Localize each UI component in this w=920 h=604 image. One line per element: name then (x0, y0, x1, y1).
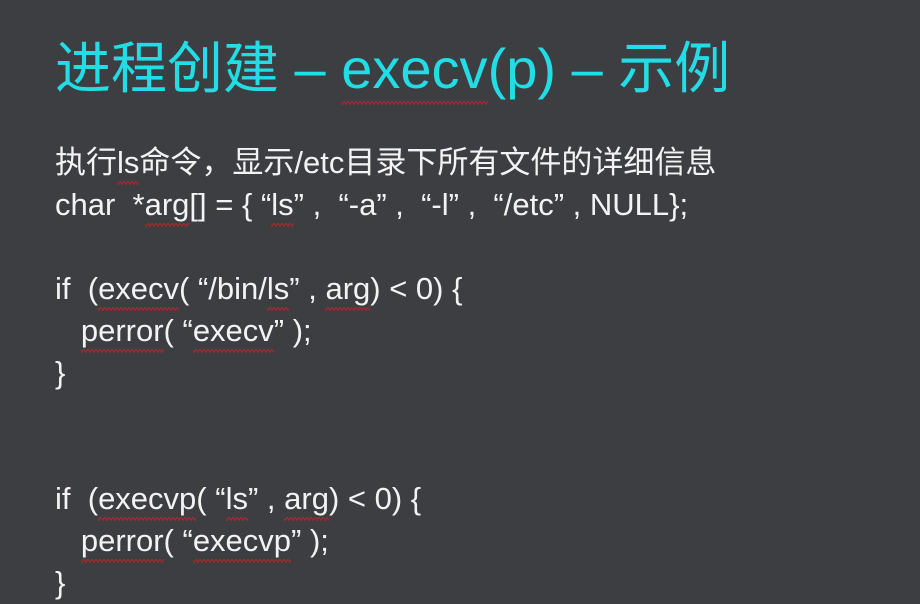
misspelled-token: execv (98, 268, 179, 310)
code-body: 执行ls命令，显示/etc目录下所有文件的详细信息char *arg[] = {… (55, 142, 885, 604)
code-line (55, 226, 885, 268)
code-text: } (55, 565, 65, 600)
code-text: } (55, 355, 65, 390)
misspelled-token: ls (117, 142, 139, 184)
code-text: ” , “-a” , “-l” , “/etc” , NULL}; (294, 187, 688, 222)
misspelled-token: arg (284, 478, 329, 520)
code-text: ” ); (274, 313, 312, 348)
misspelled-token: perror (81, 310, 164, 352)
code-text: ( “ (164, 313, 193, 348)
code-line (55, 436, 885, 478)
code-text: ” , (289, 271, 325, 306)
misspelled-token: arg (145, 184, 190, 226)
code-line: if (execvp( “ls” , arg) < 0) { (55, 478, 885, 520)
misspelled-token: execv (193, 310, 274, 352)
code-line: char *arg[] = { “ls” , “-a” , “-l” , “/e… (55, 184, 885, 226)
code-text (55, 313, 81, 348)
code-text: 执行 (55, 145, 117, 180)
misspelled-token: ls (271, 184, 293, 226)
code-text: ) < 0) { (370, 271, 462, 306)
code-text: 命令，显示/etc目录下所有文件的详细信息 (139, 145, 716, 180)
slide-canvas: 进程创建 – execv(p) – 示例 执行ls命令，显示/etc目录下所有文… (0, 0, 920, 562)
misspelled-token: perror (81, 520, 164, 562)
code-line: perror( “execvp” ); (55, 520, 885, 562)
code-text: ( “ (164, 523, 193, 558)
code-text: ( “/bin/ (179, 271, 267, 306)
code-text: if ( (55, 481, 98, 516)
code-line: perror( “execv” ); (55, 310, 885, 352)
page-title-misspelled-word: execv (341, 36, 487, 102)
code-text: ( “ (196, 481, 225, 516)
misspelled-token: execvp (98, 478, 196, 520)
code-text (55, 523, 81, 558)
page-title: 进程创建 – execv(p) – 示例 (55, 36, 730, 102)
code-line: if (execv( “/bin/ls” , arg) < 0) { (55, 268, 885, 310)
code-line (55, 394, 885, 436)
code-line: } (55, 352, 885, 394)
misspelled-token: ls (267, 268, 289, 310)
misspelled-token: arg (325, 268, 370, 310)
code-line: } (55, 562, 885, 604)
code-text: [] = { “ (189, 187, 271, 222)
code-text: ” , (248, 481, 284, 516)
code-text: ” ); (291, 523, 329, 558)
code-text: ) < 0) { (329, 481, 421, 516)
code-text: char * (55, 187, 145, 222)
page-title-suffix: (p) – 示例 (488, 37, 731, 100)
page-title-prefix: 进程创建 – (55, 37, 341, 100)
misspelled-token: execvp (193, 520, 291, 562)
misspelled-token: ls (226, 478, 248, 520)
code-line: 执行ls命令，显示/etc目录下所有文件的详细信息 (55, 142, 885, 184)
code-text: if ( (55, 271, 98, 306)
